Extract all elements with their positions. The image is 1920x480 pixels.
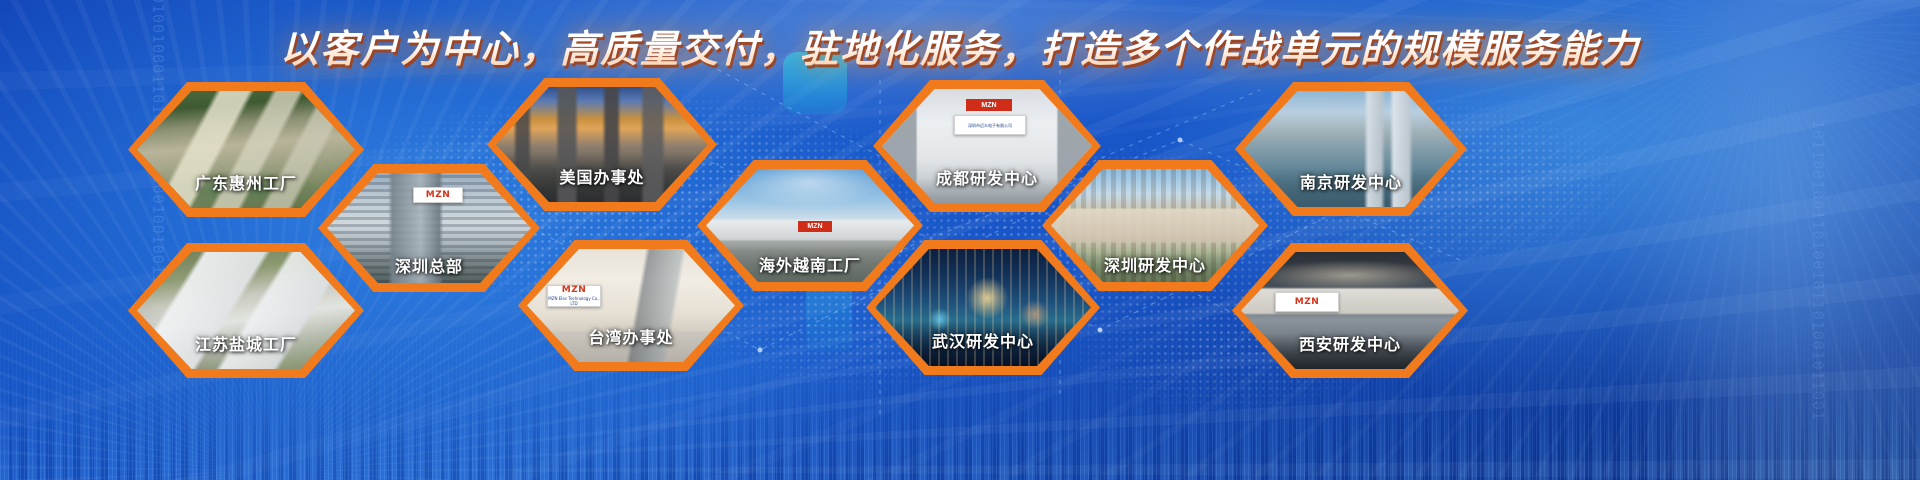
mzn-logo-mark: MZN xyxy=(562,286,587,295)
mzn-logo-plate: MZN MZN Elec Technology Co., LTD xyxy=(547,285,601,307)
hex-photo-frame: MZN 深圳市迈众电子有限公司 成都研发中心 xyxy=(882,89,1092,203)
hex-photo-frame: 南京研发中心 xyxy=(1244,91,1458,207)
hex-photo-frame: MZN 西安研发中心 xyxy=(1241,252,1459,369)
hex-photo-frame: 江苏盐城工厂 xyxy=(137,252,355,369)
hex-photo-frame: 深圳研发中心 xyxy=(1051,169,1259,282)
hex-photo-frame: 美国办事处 xyxy=(496,87,708,202)
location-label: 西安研发中心 xyxy=(1241,331,1459,355)
hex-photo-frame: MZN 海外越南工厂 xyxy=(706,169,914,282)
mzn-logo-mark: MZN xyxy=(1295,298,1320,307)
hex-photo-frame: 广东惠州工厂 xyxy=(137,91,355,208)
mzn-logo-plate: 深圳市迈众电子有限公司 xyxy=(954,115,1026,135)
red-signage: MZN xyxy=(798,221,832,232)
hex-photo-frame: MZN 深圳总部 xyxy=(327,173,531,283)
company-locations-banner: 01001000110100101100010010011010 1011001… xyxy=(0,0,1920,480)
mzn-logo-mark: MZN xyxy=(426,191,451,200)
mzn-logo-plate: MZN xyxy=(1275,292,1339,312)
hex-photo-frame: MZN MZN Elec Technology Co., LTD 台湾办事处 xyxy=(527,249,735,362)
location-label: 武汉研发中心 xyxy=(875,328,1091,352)
red-signage: MZN xyxy=(966,99,1012,111)
location-label: 深圳总部 xyxy=(327,253,531,277)
location-label: 南京研发中心 xyxy=(1244,169,1458,193)
banner-headline: 以客户为中心，高质量交付，驻地化服务，打造多个作战单元的规模服务能力 xyxy=(0,18,1920,73)
company-name-cn: 深圳市迈众电子有限公司 xyxy=(968,123,1012,128)
location-label: 广东惠州工厂 xyxy=(137,170,355,194)
hex-photo-frame: 武汉研发中心 xyxy=(875,249,1091,366)
location-label: 成都研发中心 xyxy=(882,165,1092,189)
location-label: 美国办事处 xyxy=(496,164,708,188)
location-label: 江苏盐城工厂 xyxy=(137,331,355,355)
location-label: 台湾办事处 xyxy=(527,324,735,348)
company-name-en: MZN Elec Technology Co., LTD xyxy=(548,296,600,306)
mzn-logo-plate: MZN xyxy=(413,187,463,203)
